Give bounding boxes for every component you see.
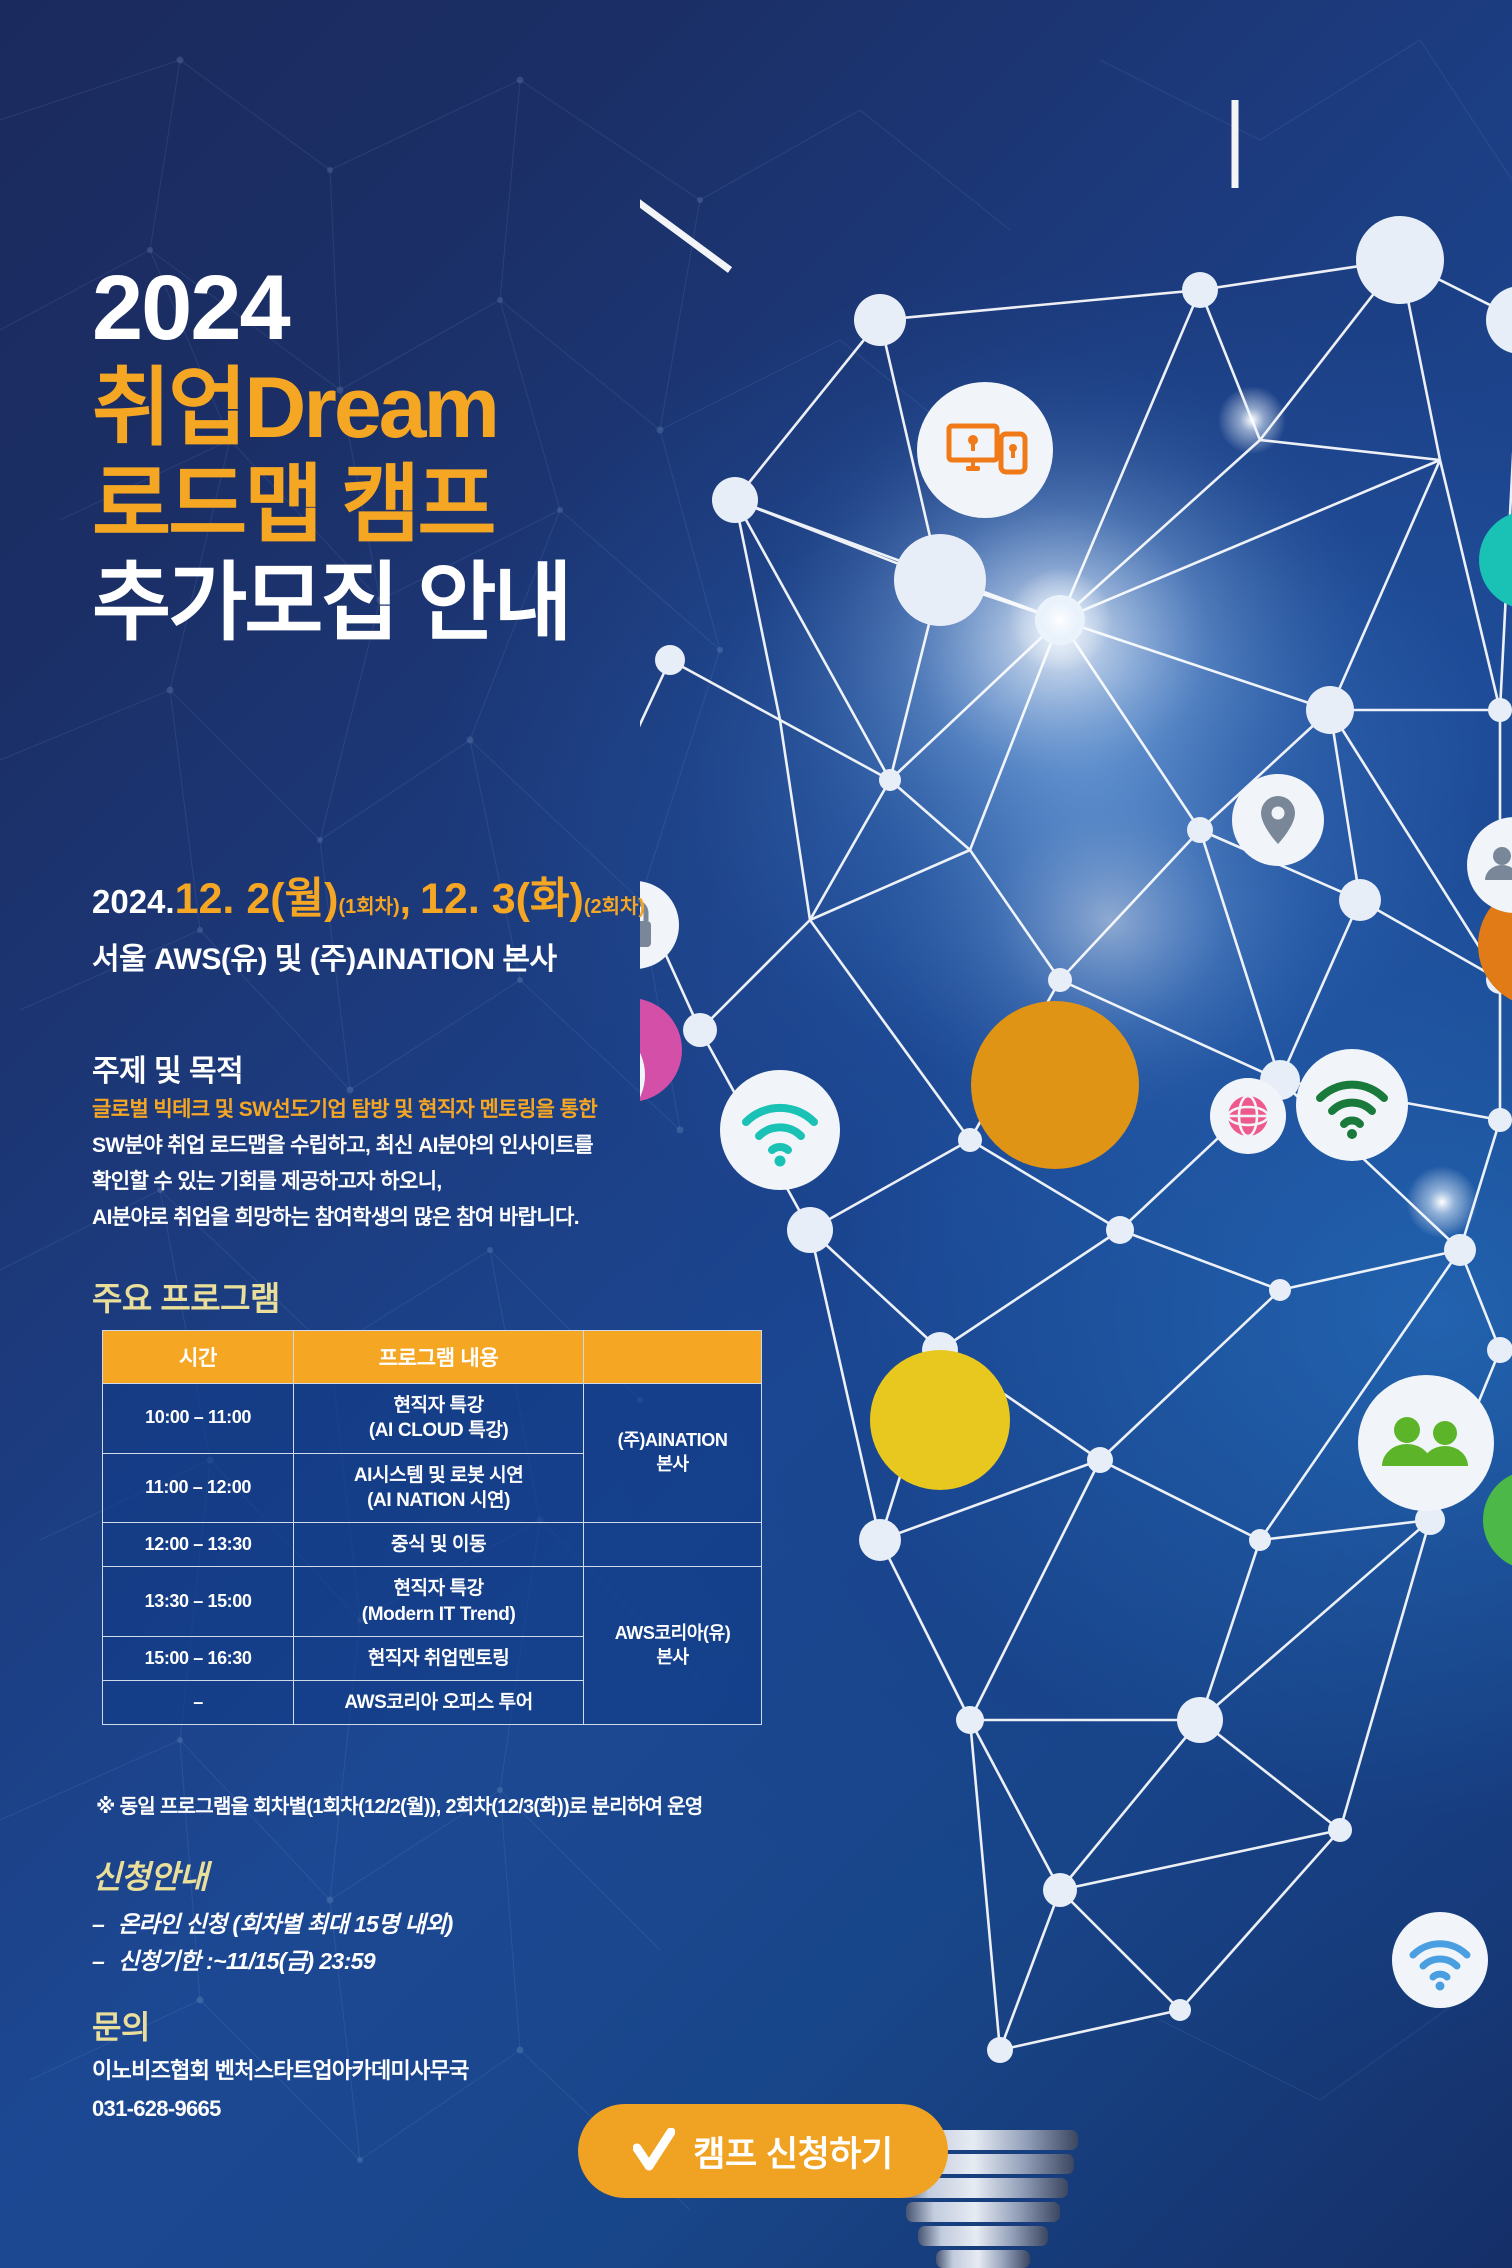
poster-title-line-1: 취업Dream bbox=[92, 365, 497, 453]
row-1-time: 10:00 – 11:00 bbox=[103, 1384, 294, 1454]
wifi-icon-node-2 bbox=[1296, 1049, 1408, 1161]
table-row: 13:30 – 15:00 현직자 특강(Modern IT Trend) AW… bbox=[103, 1567, 762, 1637]
program-col-place bbox=[584, 1331, 762, 1384]
date-1-main: 12. 2 bbox=[175, 875, 271, 923]
dash-marker: – bbox=[92, 1906, 118, 1943]
section-heading-apply: 신청안내 bbox=[92, 1852, 208, 1898]
row-1-place: (주)AINATION본사 bbox=[584, 1384, 762, 1523]
node-yellow bbox=[870, 1350, 1010, 1490]
poster-title-line-3: 추가모집 안내 bbox=[92, 560, 570, 648]
row-4-place: AWS코리아(유)본사 bbox=[584, 1567, 762, 1725]
poster-title-line-2: 로드맵 캠프 bbox=[92, 462, 494, 550]
apply-item-1: 온라인 신청 (회차별 최대 15명 내외) bbox=[118, 1911, 453, 1937]
devices-lock-icon-node bbox=[917, 382, 1053, 518]
row-4-content: 현직자 특강(Modern IT Trend) bbox=[294, 1567, 584, 1637]
section-heading-purpose: 주제 및 목적 bbox=[92, 1046, 243, 1090]
node-teal bbox=[1479, 511, 1512, 609]
node-orange bbox=[971, 1001, 1139, 1169]
row-3-content: 중식 및 이동 bbox=[294, 1523, 584, 1567]
event-dateline: 2024.12. 2(월)(1회차), 12. 3(화)(2회차) bbox=[92, 878, 645, 921]
row-2-content: AI시스템 및 로봇 시연(AI NATION 시연) bbox=[294, 1453, 584, 1523]
dash-marker: – bbox=[92, 1943, 118, 1980]
date-2-main: 12. 3 bbox=[420, 875, 516, 923]
date-separator: , bbox=[400, 878, 411, 922]
row-2-time: 11:00 – 12:00 bbox=[103, 1453, 294, 1523]
purpose-line-1: 글로벌 빅테크 및 SW선도기업 탐방 및 현직자 멘토링을 통한 bbox=[92, 1092, 732, 1128]
check-icon bbox=[633, 2128, 675, 2174]
list-item: –온라인 신청 (회차별 최대 15명 내외) bbox=[92, 1906, 453, 1943]
row-3-place bbox=[584, 1523, 762, 1567]
date-2-session: (2회차) bbox=[584, 896, 645, 918]
program-table-header-row: 시간 프로그램 내용 bbox=[103, 1331, 762, 1384]
apply-list: –온라인 신청 (회차별 최대 15명 내외) –신청기한 :~11/15(금)… bbox=[92, 1906, 453, 1981]
contact-body: 이노비즈협회 벤처스타트업아카데미사무국 031-628-9665 bbox=[92, 2052, 469, 2128]
contact-org: 이노비즈협회 벤처스타트업아카데미사무국 bbox=[92, 2052, 469, 2090]
purpose-line-4: AI분야로 취업을 희망하는 참여학생의 많은 참여 바랍니다. bbox=[92, 1200, 732, 1236]
row-5-time: 15:00 – 16:30 bbox=[103, 1636, 294, 1680]
table-row: 10:00 – 11:00 현직자 특강(AI CLOUD 특강) (주)AIN… bbox=[103, 1384, 762, 1454]
purpose-body: 글로벌 빅테크 및 SW선도기업 탐방 및 현직자 멘토링을 통한 SW분야 취… bbox=[92, 1092, 732, 1236]
row-1-content: 현직자 특강(AI CLOUD 특강) bbox=[294, 1384, 584, 1454]
row-6-content: AWS코리아 오피스 투어 bbox=[294, 1681, 584, 1725]
program-col-content: 프로그램 내용 bbox=[294, 1331, 584, 1384]
apply-camp-button[interactable]: 캠프 신청하기 bbox=[578, 2104, 948, 2198]
globe-icon bbox=[1210, 1078, 1286, 1154]
apply-camp-label: 캠프 신청하기 bbox=[693, 2126, 892, 2177]
row-4-time: 13:30 – 15:00 bbox=[103, 1567, 294, 1637]
users-group-icon bbox=[1358, 1375, 1494, 1511]
date-2-day: (화) bbox=[516, 875, 584, 923]
purpose-line-2: SW분야 취업 로드맵을 수립하고, 최신 AI분야의 인사이트를 bbox=[92, 1128, 732, 1164]
section-heading-contact: 문의 bbox=[92, 2002, 150, 2048]
list-item: –신청기한 :~11/15(금) 23:59 bbox=[92, 1943, 453, 1980]
people-icon-node bbox=[1467, 817, 1512, 913]
date-year-prefix: 2024. bbox=[92, 883, 175, 920]
apply-item-2: 신청기한 :~11/15(금) 23:59 bbox=[118, 1948, 375, 1974]
row-6-time: – bbox=[103, 1681, 294, 1725]
row-3-time: 12:00 – 13:30 bbox=[103, 1523, 294, 1567]
purpose-line-3: 확인할 수 있는 기회를 제공하고자 하오니, bbox=[92, 1164, 732, 1200]
program-col-time: 시간 bbox=[103, 1331, 294, 1384]
wifi-icon-node-3 bbox=[1392, 1912, 1488, 2008]
date-1-day: (월) bbox=[270, 875, 338, 923]
poster-content: 2024 취업Dream 로드맵 캠프 추가모집 안내 2024.12. 2(월… bbox=[0, 0, 820, 2268]
contact-phone: 031-628-9665 bbox=[92, 2090, 469, 2128]
section-heading-program: 주요 프로그램 bbox=[92, 1272, 280, 1320]
poster-canvas: 2024 취업Dream 로드맵 캠프 추가모집 안내 2024.12. 2(월… bbox=[0, 0, 1512, 2268]
poster-year: 2024 bbox=[92, 262, 289, 354]
program-note: ※ 동일 프로그램을 회차별(1회차(12/2(월)), 2회차(12/3(화)… bbox=[96, 1790, 703, 1819]
table-row: 12:00 – 13:30 중식 및 이동 bbox=[103, 1523, 762, 1567]
node-green bbox=[1483, 1470, 1512, 1570]
row-5-content: 현직자 취업멘토링 bbox=[294, 1636, 584, 1680]
event-venue: 서울 AWS(유) 및 (주)AINATION 본사 bbox=[92, 934, 557, 978]
date-1-session: (1회차) bbox=[338, 896, 399, 918]
location-pin-icon-node bbox=[1232, 774, 1324, 866]
program-table: 시간 프로그램 내용 10:00 – 11:00 현직자 특강(AI CLOUD… bbox=[102, 1330, 762, 1725]
